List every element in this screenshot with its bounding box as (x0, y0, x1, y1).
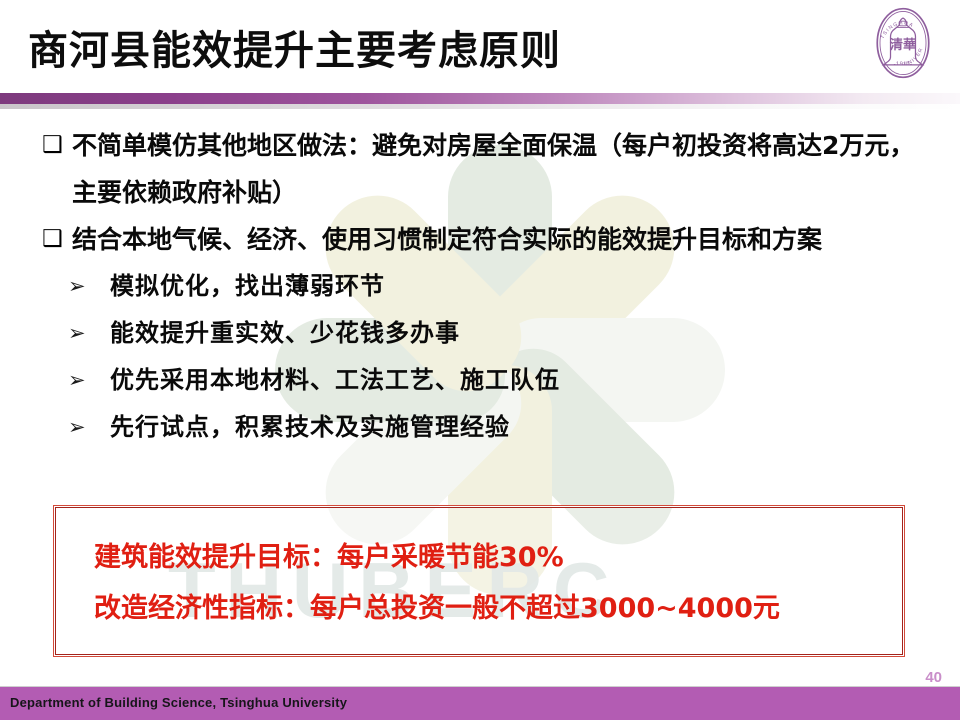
footer-bar: Department of Building Science, Tsinghua… (0, 687, 960, 720)
callout-line-2: 改造经济性指标：每户总投资一般不超过3000~4000元 (94, 583, 904, 634)
page-number: 40 (925, 669, 942, 686)
sub-bullet-item-3-label: 优先采用本地材料、工法工艺、施工队伍 (110, 366, 560, 394)
sub-bullet-item-2: ➢ 能效提升重实效、少花钱多办事 (0, 310, 960, 357)
arrow-bullet-icon: ➢ (68, 310, 87, 357)
sub-bullet-item-4: ➢ 先行试点，积累技术及实施管理经验 (0, 404, 960, 451)
arrow-bullet-icon: ➢ (68, 404, 87, 451)
bullet-item-1: ❑ 不简单模仿其他地区做法：避免对房屋全面保温（每户初投资将高达2万元，主要依赖… (0, 122, 934, 216)
callout-box: 建筑能效提升目标：每户采暖节能30% 改造经济性指标：每户总投资一般不超过300… (53, 505, 905, 657)
header-divider-bar (0, 93, 960, 104)
arrow-bullet-icon: ➢ (68, 263, 87, 310)
arrow-bullet-icon: ➢ (68, 357, 87, 404)
sub-bullet-item-1-label: 模拟优化，找出薄弱环节 (110, 272, 385, 300)
sub-bullet-item-1: ➢ 模拟优化，找出薄弱环节 (0, 263, 960, 310)
svg-text:清華: 清華 (890, 36, 917, 53)
slide: THUBERC 商河县能效提升主要考虑原则 清華 -1911- TSINGHUA… (0, 0, 960, 720)
square-bullet-icon: ❑ (42, 216, 63, 263)
header-divider-shadow (0, 104, 960, 109)
tsinghua-university-seal-icon: 清華 -1911- TSINGHUA UNIVERSITY (864, 4, 942, 82)
footer-label: Department of Building Science, Tsinghua… (10, 695, 347, 710)
square-bullet-icon: ❑ (42, 122, 63, 169)
callout-line-1: 建筑能效提升目标：每户采暖节能30% (94, 532, 904, 583)
bullet-item-2: ❑ 结合本地气候、经济、使用习惯制定符合实际的能效提升目标和方案 (0, 216, 934, 263)
sub-bullet-item-3: ➢ 优先采用本地材料、工法工艺、施工队伍 (0, 357, 960, 404)
bullet-item-1-label: 不简单模仿其他地区做法：避免对房屋全面保温（每户初投资将高达2万元，主要依赖政府… (72, 131, 914, 207)
bullet-item-2-label: 结合本地气候、经济、使用习惯制定符合实际的能效提升目标和方案 (72, 225, 822, 254)
sub-bullet-item-4-label: 先行试点，积累技术及实施管理经验 (110, 413, 510, 441)
sub-bullet-item-2-label: 能效提升重实效、少花钱多办事 (110, 319, 460, 347)
bullet-list: ❑ 不简单模仿其他地区做法：避免对房屋全面保温（每户初投资将高达2万元，主要依赖… (0, 122, 960, 451)
page-title: 商河县能效提升主要考虑原则 (28, 18, 561, 76)
